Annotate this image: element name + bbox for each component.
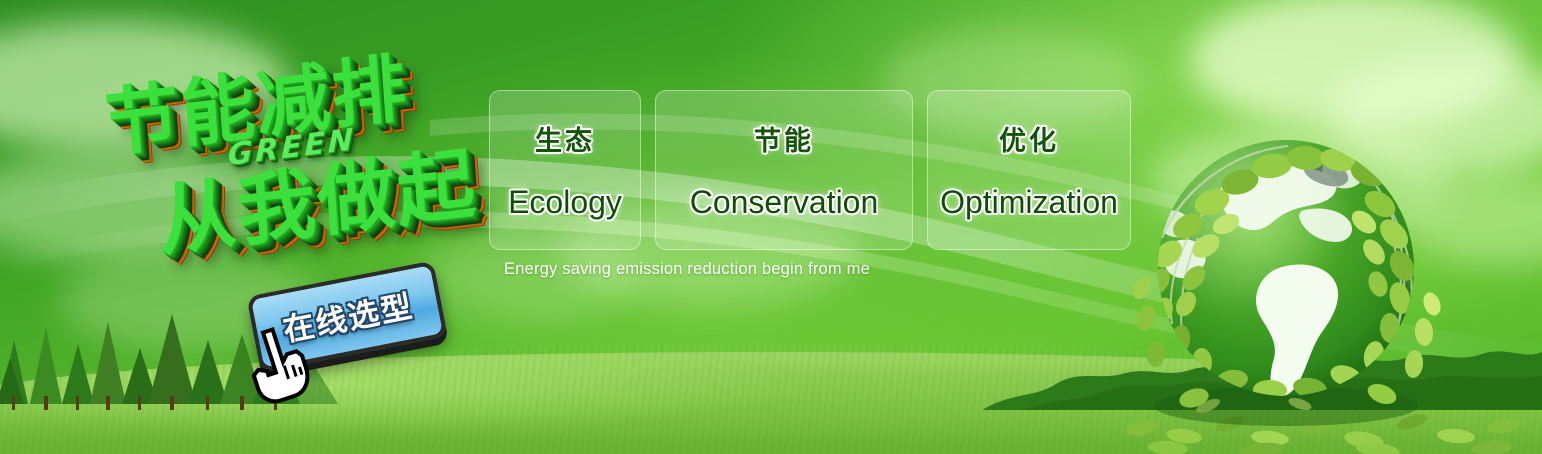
cta-plate[interactable]: 在线选型 bbox=[246, 261, 447, 373]
online-selection-button[interactable]: 在线选型 bbox=[246, 261, 447, 373]
leafy-earth-globe bbox=[1128, 118, 1448, 438]
banner-subtitle: Energy saving emission reduction begin f… bbox=[504, 260, 870, 279]
feature-card-ecology[interactable]: 生态 Ecology bbox=[489, 90, 641, 250]
headline-3d: 节能减排 GREEN 从我做起 bbox=[90, 25, 495, 287]
cta-label: 在线选型 bbox=[280, 289, 416, 350]
feature-card-en-label: Optimization bbox=[940, 184, 1118, 221]
feature-card-cn-label: 节能 bbox=[754, 119, 814, 158]
feature-card-optimization[interactable]: 优化 Optimization bbox=[927, 90, 1131, 250]
feature-card-cn-label: 生态 bbox=[535, 119, 595, 158]
feature-card-en-label: Conservation bbox=[690, 184, 879, 221]
cloud-shape bbox=[1190, 0, 1520, 130]
feature-card-en-label: Ecology bbox=[508, 184, 622, 221]
feature-card-cn-label: 优化 bbox=[999, 119, 1059, 158]
eco-banner: 节能减排 GREEN 从我做起 在线选型 生态 Ecology 节能 Conse… bbox=[0, 0, 1542, 454]
feature-card-list: 生态 Ecology 节能 Conservation 优化 Optimizati… bbox=[489, 90, 1131, 250]
feature-card-conservation[interactable]: 节能 Conservation bbox=[655, 90, 913, 250]
